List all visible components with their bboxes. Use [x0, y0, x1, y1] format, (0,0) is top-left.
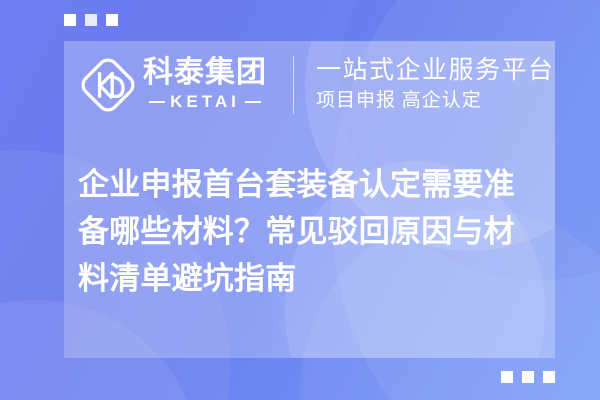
brand-name-en: KETAI [170, 92, 240, 112]
brand-header: 科泰集团 KETAI 一站式企业服务平台 项目申报 高企认定 [64, 41, 555, 119]
brand-wordmark: 科泰集团 KETAI [143, 57, 267, 112]
rule-right [245, 101, 261, 103]
headline-title: 企业申报首台套装备认定需要准备哪些材料？常见驳回原因与材料清单避坑指南 [78, 161, 545, 302]
dot-square [106, 14, 118, 26]
dot-square [85, 14, 97, 26]
dot-square [522, 371, 534, 383]
brand-name-cn: 科泰集团 [143, 57, 267, 89]
header-divider [293, 56, 294, 114]
rule-left [149, 101, 165, 103]
dot-square [543, 371, 555, 383]
tagline-block: 一站式企业服务平台 项目申报 高企认定 [316, 55, 555, 114]
promo-banner: 科泰集团 KETAI 一站式企业服务平台 项目申报 高企认定 企业申报首台套装备… [0, 0, 600, 400]
dot-square [64, 14, 76, 26]
decorative-dots-top-left [64, 14, 118, 26]
ketai-diamond-kd-logo-icon [78, 55, 138, 115]
tagline-sub: 项目申报 高企认定 [316, 89, 555, 114]
content-panel: 科泰集团 KETAI 一站式企业服务平台 项目申报 高企认定 企业申报首台套装备… [64, 41, 555, 358]
dot-square [501, 371, 513, 383]
brand-latin-row: KETAI [149, 92, 261, 112]
tagline-main: 一站式企业服务平台 [316, 55, 555, 85]
decorative-dots-bottom-right [501, 371, 555, 383]
